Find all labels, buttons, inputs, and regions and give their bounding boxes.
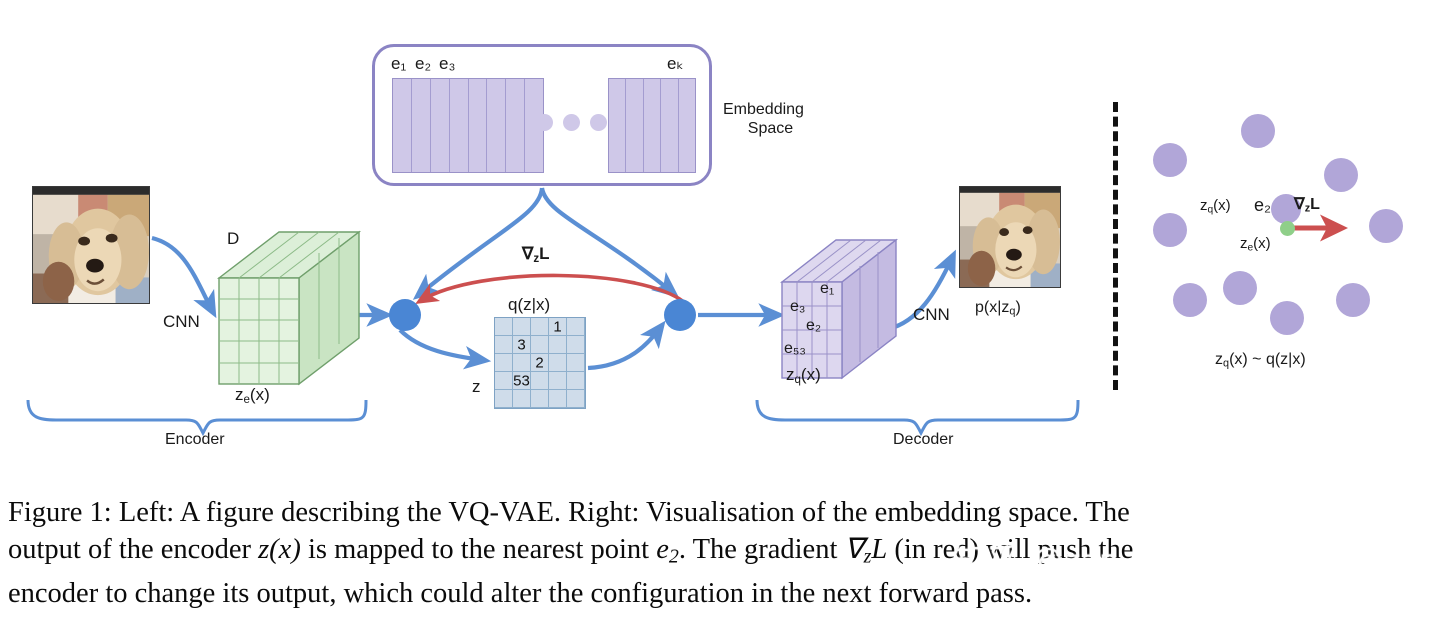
input-image xyxy=(32,186,150,304)
latent-cell xyxy=(495,390,513,408)
arrow-node1-to-latent xyxy=(400,330,482,360)
embedding-point xyxy=(1336,283,1370,317)
zq-x-label-right: zq(x) xyxy=(1200,198,1231,216)
cnn-label-encoder: CNN xyxy=(163,313,200,330)
latent-cell xyxy=(531,318,549,336)
embedding-point xyxy=(1153,213,1187,247)
embedding-point xyxy=(1223,271,1257,305)
embedding-point xyxy=(1153,143,1187,177)
figure-caption: Figure 1: Left: A figure describing the … xyxy=(8,494,1432,612)
encoder-cube xyxy=(219,232,359,384)
latent-cell xyxy=(567,390,585,408)
codebook-label-ek: eₖ xyxy=(667,55,684,72)
codebook-block-last xyxy=(608,78,696,173)
brace-label-encoder: Encoder xyxy=(165,432,225,448)
arrow-latent-to-node2 xyxy=(588,328,660,368)
panel-divider xyxy=(1113,102,1118,390)
arrow-image-to-encoder xyxy=(152,238,212,310)
latent-cell xyxy=(549,354,567,372)
arrow-gradient-red xyxy=(422,275,684,302)
decoder-cell-label-e2: e₂ xyxy=(806,318,821,334)
dog-photo-art-output xyxy=(960,187,1060,287)
embedding-space-title: Embedding Space xyxy=(723,100,804,138)
latent-cell: 1 xyxy=(549,318,567,336)
figure-vqvae: e₁ e₂ e₃ eₖ Embedding Space xyxy=(0,0,1440,622)
encoder-output-point xyxy=(1280,221,1295,236)
codebook-label-e2: e₂ xyxy=(415,55,431,72)
latent-code-grid: 1 3 2 53 xyxy=(494,317,586,409)
decoder-cell-label-e3: e₃ xyxy=(790,299,805,315)
zq-x-label: zq(x) xyxy=(786,366,821,386)
latent-cell xyxy=(495,336,513,354)
latent-cell: 53 xyxy=(513,372,531,390)
embedding-posterior-label: zq(x) ~ q(z|x) xyxy=(1215,352,1306,370)
embedding-point xyxy=(1173,283,1207,317)
dog-photo-art xyxy=(33,187,149,303)
embedding-point xyxy=(1241,114,1275,148)
codebook-label-e1: e₁ xyxy=(391,55,406,72)
latent-cell xyxy=(567,354,585,372)
ze-x-label: ze(x) xyxy=(235,386,270,406)
latent-cell xyxy=(495,354,513,372)
latent-cell xyxy=(549,336,567,354)
latent-cell: 3 xyxy=(513,336,531,354)
node-quantize-left xyxy=(389,299,421,331)
latent-cell xyxy=(513,354,531,372)
decoder-cell-label-e1: e₁ xyxy=(820,281,834,297)
qzx-label: q(z|x) xyxy=(508,296,550,313)
codebook-label-e3: e₃ xyxy=(439,55,455,72)
embedding-space-title-line2: Space xyxy=(737,119,804,138)
latent-cell: 2 xyxy=(531,354,549,372)
z-label: z xyxy=(472,378,481,395)
output-image xyxy=(959,186,1061,288)
latent-cell xyxy=(567,336,585,354)
latent-cell xyxy=(567,372,585,390)
latent-cell xyxy=(495,318,513,336)
latent-cell xyxy=(549,390,567,408)
ze-x-label-right: ze(x) xyxy=(1240,236,1271,254)
brace-label-decoder: Decoder xyxy=(893,432,953,448)
encoder-depth-label: D xyxy=(227,230,239,247)
latent-cell xyxy=(513,390,531,408)
latent-cell xyxy=(531,372,549,390)
latent-cell xyxy=(549,372,567,390)
embedding-point xyxy=(1324,158,1358,192)
caption-line-2: output of the encoder z(x) is mapped to … xyxy=(8,534,1133,565)
output-distribution-label: p(x|zq) xyxy=(975,300,1021,318)
decoder-cell-label-e53: e₅₃ xyxy=(784,341,806,357)
nearest-code-label: e₂ xyxy=(1254,196,1271,214)
latent-cell xyxy=(513,318,531,336)
latent-cell xyxy=(567,318,585,336)
embedding-space-title-line1: Embedding xyxy=(723,100,804,119)
codebook-ellipsis xyxy=(536,114,608,134)
embedding-point xyxy=(1270,301,1304,335)
latent-cell xyxy=(531,336,549,354)
gradient-label-left: ∇zL xyxy=(522,245,550,265)
latent-cell xyxy=(495,372,513,390)
cnn-label-decoder: CNN xyxy=(913,306,950,323)
latent-cell xyxy=(531,390,549,408)
codebook-block-first xyxy=(392,78,544,173)
caption-line-3: encoder to change its output, which coul… xyxy=(8,578,1032,609)
brace-encoder xyxy=(28,400,366,433)
caption-line-1: Figure 1: Left: A figure describing the … xyxy=(8,497,1130,528)
brace-decoder xyxy=(757,400,1078,433)
gradient-label-right: ∇zL xyxy=(1294,197,1320,215)
node-quantize-right xyxy=(664,299,696,331)
embedding-point xyxy=(1369,209,1403,243)
